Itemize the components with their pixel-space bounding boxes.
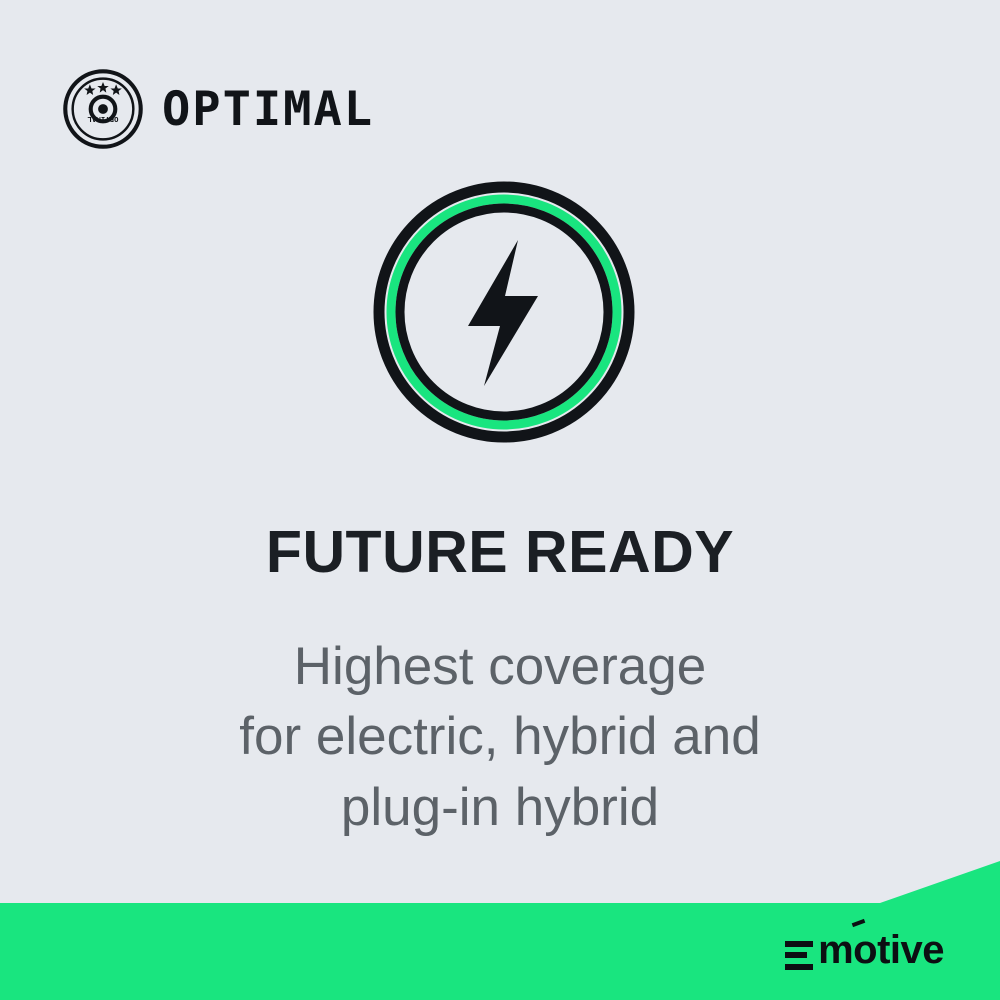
optimal-bearing-logo-icon: OPTIMAL: [62, 68, 144, 150]
emotive-e-mark-icon: [785, 941, 813, 970]
emotive-logo-tick: [852, 919, 866, 927]
poster: OPTIMAL OPTIMAL FUTURE READY Highest cov…: [0, 0, 1000, 1000]
page-title: FUTURE READY: [0, 522, 1000, 584]
band-corner-notch: [880, 861, 1000, 903]
footer-band: motive: [0, 903, 1000, 1000]
subtitle: Highest coverage for electric, hybrid an…: [0, 632, 1000, 843]
emotive-logo-text: motive: [818, 930, 944, 970]
svg-text:OPTIMAL: OPTIMAL: [87, 115, 119, 124]
brand-lockup: OPTIMAL OPTIMAL: [62, 68, 374, 150]
emotive-logo-wordmark: motive: [818, 928, 944, 972]
brand-wordmark: OPTIMAL: [162, 86, 374, 133]
future-ready-badge: [370, 178, 638, 446]
emotive-logo: motive: [785, 930, 944, 970]
